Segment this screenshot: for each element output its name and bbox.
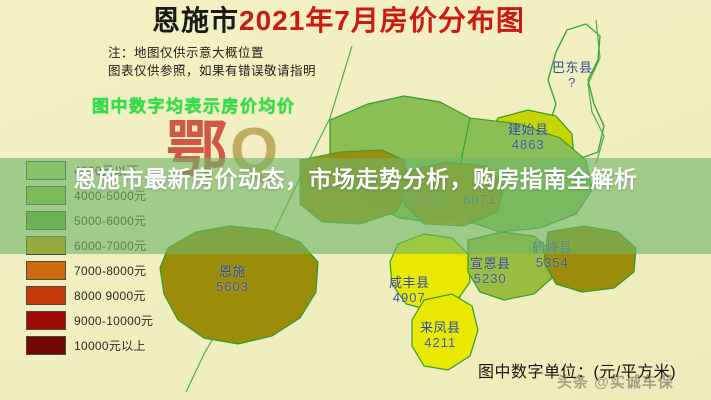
legend-swatch-icon xyxy=(26,261,66,280)
site-watermark: 头条 @实诚车保 xyxy=(557,371,674,392)
poster-note-line-1: 注：地图仅供示意大概位置 xyxy=(108,42,264,61)
map-label-enshi: 恩施 5603 xyxy=(216,264,249,294)
map-label-jianshi: 建始县 4863 xyxy=(508,122,549,152)
legend-item: 7000-8000元 xyxy=(26,258,176,283)
legend-item: 9000-10000元 xyxy=(26,308,176,333)
legend-item: 10000元以上 xyxy=(26,333,176,358)
legend-swatch-icon xyxy=(26,286,66,305)
legend-item: 8000 9000元 xyxy=(26,283,176,308)
legend-swatch-icon xyxy=(26,336,66,355)
legend-label: 7000-8000元 xyxy=(74,262,146,279)
poster-note-line-2: 图表仅供参照，如果有错误敬请指明 xyxy=(108,60,316,79)
legend-label: 10000元以上 xyxy=(74,337,146,354)
headline-overlay-text: 恩施市最新房价动态，市场走势分析，购房指南全解析 xyxy=(0,162,711,196)
poster-image: 巴东县 ? 建始县 4863 利川市 6071 恩施 5603 咸丰县 4907… xyxy=(0,0,711,400)
map-label-laifeng: 来凤县 4211 xyxy=(420,320,461,350)
map-label-xianfeng: 咸丰县 4907 xyxy=(389,275,430,305)
poster-title: 恩施市2021年7月房价分布图 xyxy=(152,4,525,38)
poster-green-note: 图中数字均表示房价均价 xyxy=(92,92,296,117)
legend-label: 9000-10000元 xyxy=(74,312,153,329)
legend-swatch-icon xyxy=(26,311,66,330)
map-label-badong: 巴东县 ? xyxy=(552,60,593,90)
legend-label: 8000 9000元 xyxy=(74,287,146,304)
poster-title-main: 2021年7月房价分布图 xyxy=(239,5,525,36)
poster-title-prefix: 恩施市 xyxy=(152,5,239,36)
map-label-xuanen: 宣恩县 5230 xyxy=(470,256,511,286)
